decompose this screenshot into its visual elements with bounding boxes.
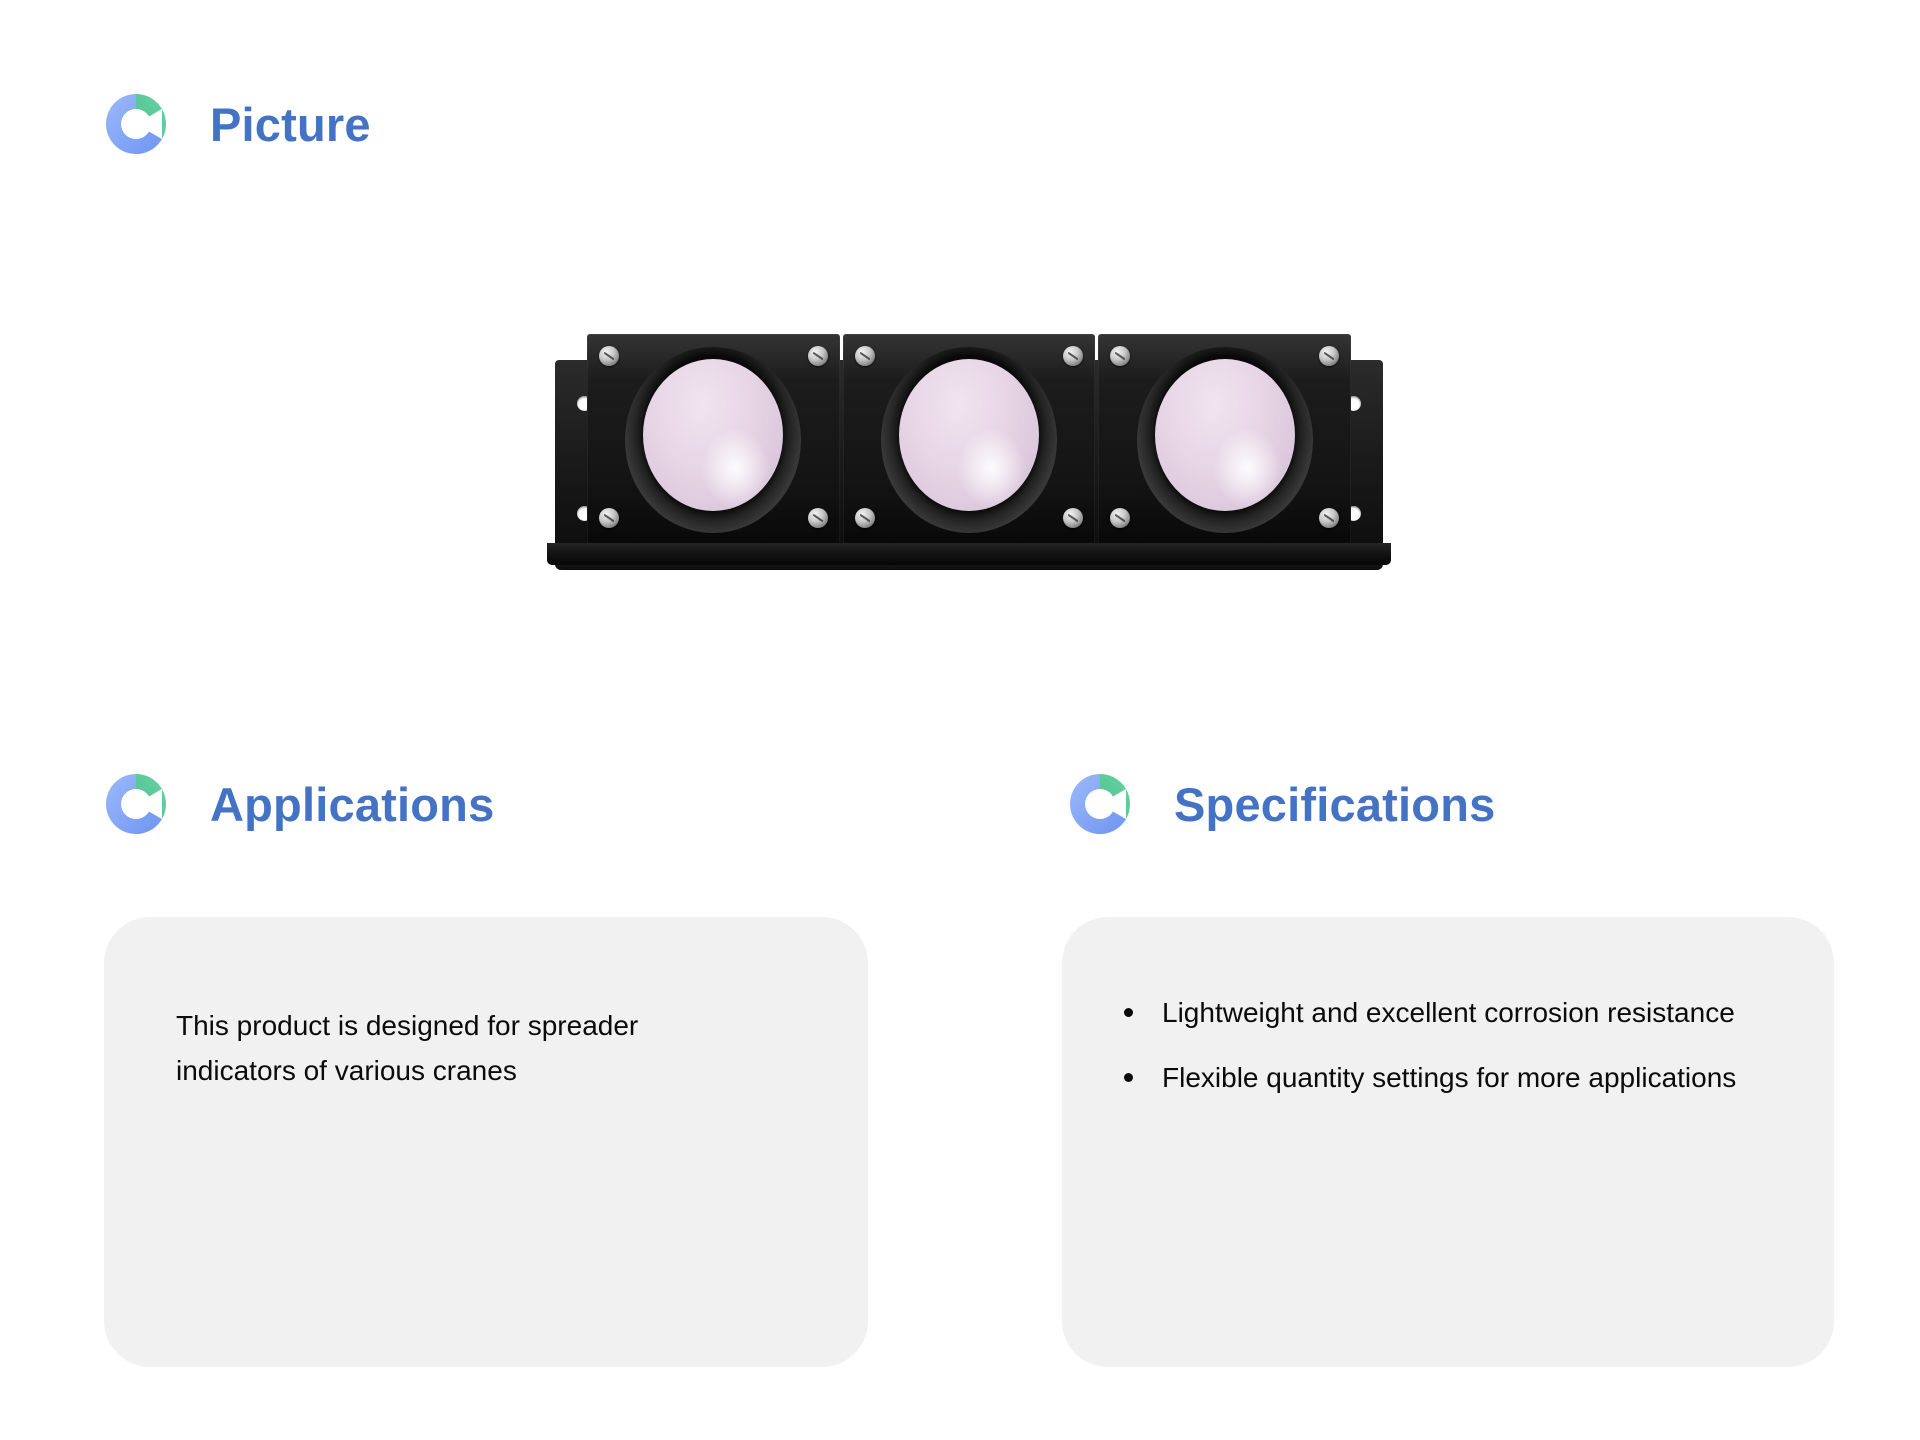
lamp-module-3 [1098, 334, 1351, 546]
product-image [539, 308, 1399, 573]
list-item: Lightweight and excellent corrosion resi… [1120, 991, 1794, 1036]
section-title-applications: Applications [210, 781, 494, 828]
lamp-dome [643, 359, 783, 511]
product-image-area [104, 210, 1834, 670]
screw-top-left [599, 346, 619, 366]
screw-bottom-left [855, 508, 875, 528]
bullet-dot-icon [1124, 1008, 1133, 1017]
screw-bottom-left [1110, 508, 1130, 528]
specifications-card-body: Lightweight and excellent corrosion resi… [1062, 917, 1834, 1101]
list-item-label: Flexible quantity settings for more appl… [1162, 1062, 1736, 1093]
bullet-dot-icon [1124, 1073, 1133, 1082]
lamp-module-row [587, 334, 1351, 546]
applications-paragraph: This product is designed for spreader in… [176, 1003, 736, 1094]
product-sheet-page: Picture [0, 0, 1920, 1440]
screw-top-left [855, 346, 875, 366]
list-item-label: Lightweight and excellent corrosion resi… [1162, 997, 1735, 1028]
specifications-bullet-list: Lightweight and excellent corrosion resi… [1120, 991, 1794, 1101]
product-front-lip [547, 543, 1391, 565]
lamp-dome [899, 359, 1039, 511]
section-title-picture: Picture [210, 101, 371, 148]
screw-bottom-right [1063, 508, 1083, 528]
section-title-specifications: Specifications [1174, 781, 1495, 828]
lamp-dome [1155, 359, 1295, 511]
c-ring-logo-icon [1068, 772, 1132, 836]
screw-top-left [1110, 346, 1130, 366]
lamp-module-1 [587, 334, 840, 546]
applications-card-body: This product is designed for spreader in… [104, 917, 868, 1094]
screw-top-right [808, 346, 828, 366]
specifications-card: Lightweight and excellent corrosion resi… [1062, 917, 1834, 1367]
screw-bottom-right [1319, 508, 1339, 528]
screw-top-right [1319, 346, 1339, 366]
lamp-module-2 [843, 334, 1096, 546]
applications-card: This product is designed for spreader in… [104, 917, 868, 1367]
section-header-applications: Applications [104, 772, 494, 836]
section-header-picture: Picture [104, 92, 371, 156]
list-item: Flexible quantity settings for more appl… [1120, 1056, 1794, 1101]
c-ring-logo-icon [104, 92, 168, 156]
c-ring-logo-icon [104, 772, 168, 836]
screw-bottom-right [808, 508, 828, 528]
screw-top-right [1063, 346, 1083, 366]
screw-bottom-left [599, 508, 619, 528]
section-header-specifications: Specifications [1068, 772, 1495, 836]
